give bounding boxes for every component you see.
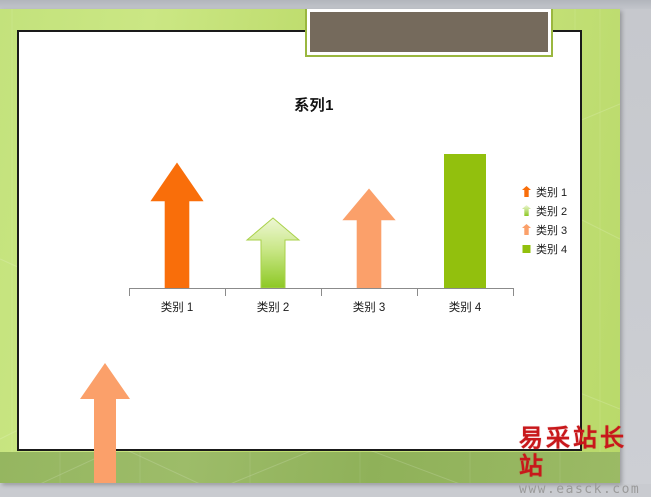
category-axis-label-1: 类别 1 — [129, 299, 225, 315]
bar-series-point-1[interactable] — [129, 161, 225, 288]
ribbon-strip — [0, 0, 651, 9]
up-arrow-shape-1 — [129, 161, 225, 288]
legend-label-2: 类别 2 — [536, 203, 567, 219]
category-axis-label-3: 类别 3 — [321, 299, 417, 315]
up-arrow-icon — [522, 205, 531, 216]
square-icon — [522, 243, 531, 254]
up-arrow-icon — [522, 186, 531, 197]
axis-tick — [129, 289, 130, 296]
legend-item-3[interactable]: 类别 3 — [522, 220, 607, 239]
taupe-rectangle-shape[interactable] — [305, 9, 553, 57]
category-axis-label-2: 类别 2 — [225, 299, 321, 315]
axis-tick — [225, 289, 226, 296]
slide-canvas[interactable]: 系列1 — [0, 9, 620, 483]
watermark: 易采站长站 www.easck.com — [519, 424, 651, 482]
taupe-rectangle-fill — [307, 9, 551, 55]
up-arrow-icon — [522, 224, 531, 235]
chart-title: 系列1 — [114, 94, 514, 115]
legend-item-2[interactable]: 类别 2 — [522, 201, 607, 220]
chart-legend[interactable]: 类别 1 类别 2 — [522, 182, 607, 258]
bar-series-point-3[interactable] — [321, 187, 417, 288]
legend-label-1: 类别 1 — [536, 184, 567, 200]
legend-label-3: 类别 3 — [536, 222, 567, 238]
category-axis-label-4: 类别 4 — [417, 299, 513, 315]
legend-label-4: 类别 4 — [536, 241, 567, 257]
category-axis-labels: 类别 1 类别 2 类别 3 类别 4 — [129, 299, 514, 319]
content-placeholder-frame[interactable]: 系列1 — [17, 30, 582, 451]
axis-tick — [417, 289, 418, 296]
axis-tick — [321, 289, 322, 296]
bar-series-point-2[interactable] — [225, 216, 321, 288]
rectangle-shape-4 — [417, 154, 513, 288]
free-standing-up-arrow-shape[interactable] — [79, 362, 131, 483]
chart-object[interactable]: 系列1 — [114, 94, 584, 334]
up-arrow-shape-3 — [321, 187, 417, 288]
axis-tick — [513, 289, 514, 296]
watermark-brand: 易采站长站 — [519, 424, 651, 480]
chart-plot-area — [129, 136, 514, 291]
up-arrow-shape-2 — [225, 216, 321, 288]
legend-item-1[interactable]: 类别 1 — [522, 182, 607, 201]
legend-item-4[interactable]: 类别 4 — [522, 239, 607, 258]
bar-series-point-4[interactable] — [417, 154, 513, 288]
watermark-url: www.easck.com — [519, 482, 651, 497]
